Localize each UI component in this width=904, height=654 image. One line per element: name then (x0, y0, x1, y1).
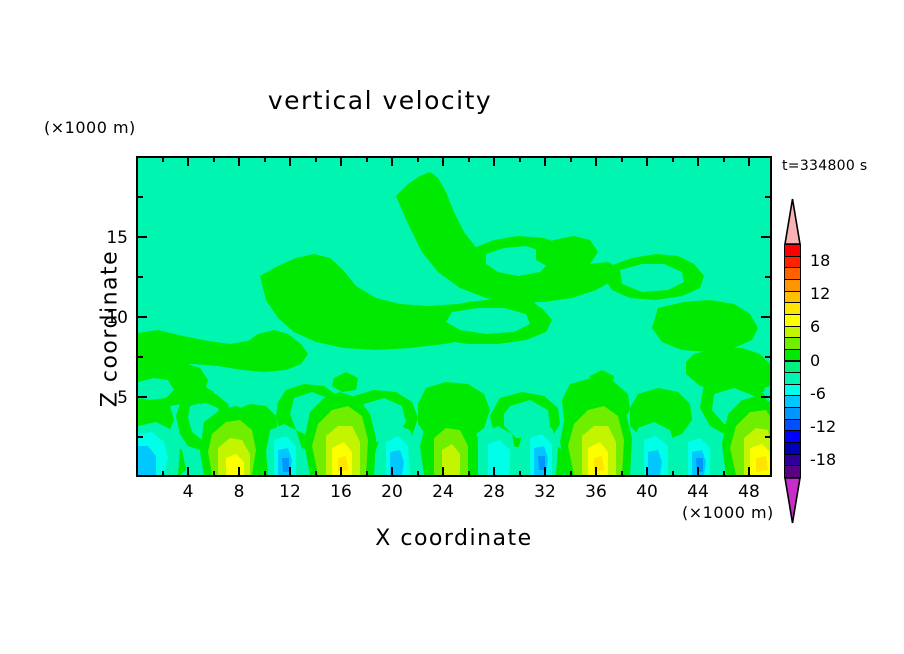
x-tick-24 (442, 467, 444, 477)
x-tick-top-minor (264, 156, 266, 162)
x-tick-minor (162, 471, 164, 477)
colorbar-tick-label: -12 (810, 417, 836, 436)
y-tick-label-2: 15 (88, 228, 128, 248)
x-tick-minor (366, 471, 368, 477)
x-tick-top-minor (570, 156, 572, 162)
x-tick-top-minor (366, 156, 368, 162)
y-tick-right (761, 236, 772, 238)
x-tick-minor (672, 471, 674, 477)
y-tick-right-minor (765, 276, 772, 278)
x-tick-top (544, 156, 546, 166)
x-tick-label-9: 40 (627, 482, 667, 502)
x-tick-top (595, 156, 597, 166)
y-tick-right-minor (765, 196, 772, 198)
x-tick-top-minor (621, 156, 623, 162)
y-tick-right (761, 316, 772, 318)
x-axis-title: X coordinate (136, 526, 772, 551)
x-tick-40 (646, 467, 648, 477)
x-tick-label-10: 44 (678, 482, 718, 502)
x-tick-top (646, 156, 648, 166)
x-tick-minor (570, 471, 572, 477)
colorbar-band (784, 465, 801, 478)
x-tick-4 (187, 467, 189, 477)
x-tick-12 (289, 467, 291, 477)
y-tick-minor (136, 196, 143, 198)
x-tick-20 (391, 467, 393, 477)
x-tick-top-minor (468, 156, 470, 162)
colorbar-tick-label: 0 (810, 351, 820, 370)
page-title: vertical velocity (0, 86, 760, 115)
colorbar-tick-label: 12 (810, 284, 830, 303)
x-tick-top-minor (162, 156, 164, 162)
x-tick-label-5: 24 (423, 482, 463, 502)
x-tick-label-0: 4 (168, 482, 208, 502)
x-tick-32 (544, 467, 546, 477)
x-tick-minor (723, 471, 725, 477)
timestamp-annotation: t=334800 s (782, 158, 867, 174)
x-tick-top (748, 156, 750, 166)
x-tick-top (442, 156, 444, 166)
x-tick-top (187, 156, 189, 166)
x-tick-minor (621, 471, 623, 477)
y-axis-units-label: (×1000 m) (44, 118, 136, 137)
x-tick-minor (468, 471, 470, 477)
contour-plot-area (136, 156, 772, 477)
y-tick-right-minor (765, 356, 772, 358)
x-tick-label-11: 48 (729, 482, 769, 502)
x-tick-label-6: 28 (474, 482, 514, 502)
x-tick-top-minor (315, 156, 317, 162)
x-tick-44 (697, 467, 699, 477)
y-tick-minor (136, 436, 143, 438)
x-tick-top-minor (519, 156, 521, 162)
y-tick-label-0: 5 (88, 388, 128, 408)
colorbar-tick-label: 18 (810, 251, 830, 270)
y-tick-label-1: 10 (88, 308, 128, 328)
x-tick-8 (238, 467, 240, 477)
y-axis-title: Z coordinate (98, 179, 123, 479)
x-tick-top (340, 156, 342, 166)
colorbar (784, 244, 801, 477)
y-tick-right-minor (765, 436, 772, 438)
x-tick-minor (213, 471, 215, 477)
vertical-velocity-field (138, 158, 770, 475)
x-tick-top-minor (417, 156, 419, 162)
y-tick-right (761, 396, 772, 398)
x-tick-minor (264, 471, 266, 477)
x-tick-label-7: 32 (525, 482, 565, 502)
x-tick-label-1: 8 (219, 482, 259, 502)
x-tick-label-2: 12 (270, 482, 310, 502)
colorbar-under-arrow (784, 477, 801, 524)
x-tick-16 (340, 467, 342, 477)
x-tick-top (493, 156, 495, 166)
x-tick-top-minor (723, 156, 725, 162)
colorbar-tick-label: 6 (810, 317, 820, 336)
chart-canvas: vertical velocity (×1000 m) Z coordinate… (0, 0, 904, 654)
x-tick-minor (417, 471, 419, 477)
x-tick-28 (493, 467, 495, 477)
x-tick-48 (748, 467, 750, 477)
y-tick-minor (136, 276, 143, 278)
x-tick-label-4: 20 (372, 482, 412, 502)
x-tick-minor (519, 471, 521, 477)
x-tick-label-3: 16 (321, 482, 361, 502)
x-tick-label-8: 36 (576, 482, 616, 502)
colorbar-over-arrow (784, 198, 801, 245)
x-tick-top (697, 156, 699, 166)
colorbar-tick-label: -6 (810, 384, 826, 403)
x-tick-top-minor (213, 156, 215, 162)
colorbar-tick-label: -18 (810, 450, 836, 469)
y-tick-10 (136, 316, 147, 318)
x-tick-top (391, 156, 393, 166)
y-tick-minor (136, 356, 143, 358)
y-tick-5 (136, 396, 147, 398)
x-tick-36 (595, 467, 597, 477)
y-tick-15 (136, 236, 147, 238)
x-tick-minor (315, 471, 317, 477)
x-axis-units-label: (×1000 m) (682, 503, 774, 522)
x-tick-top (289, 156, 291, 166)
x-tick-top-minor (672, 156, 674, 162)
x-tick-top (238, 156, 240, 166)
